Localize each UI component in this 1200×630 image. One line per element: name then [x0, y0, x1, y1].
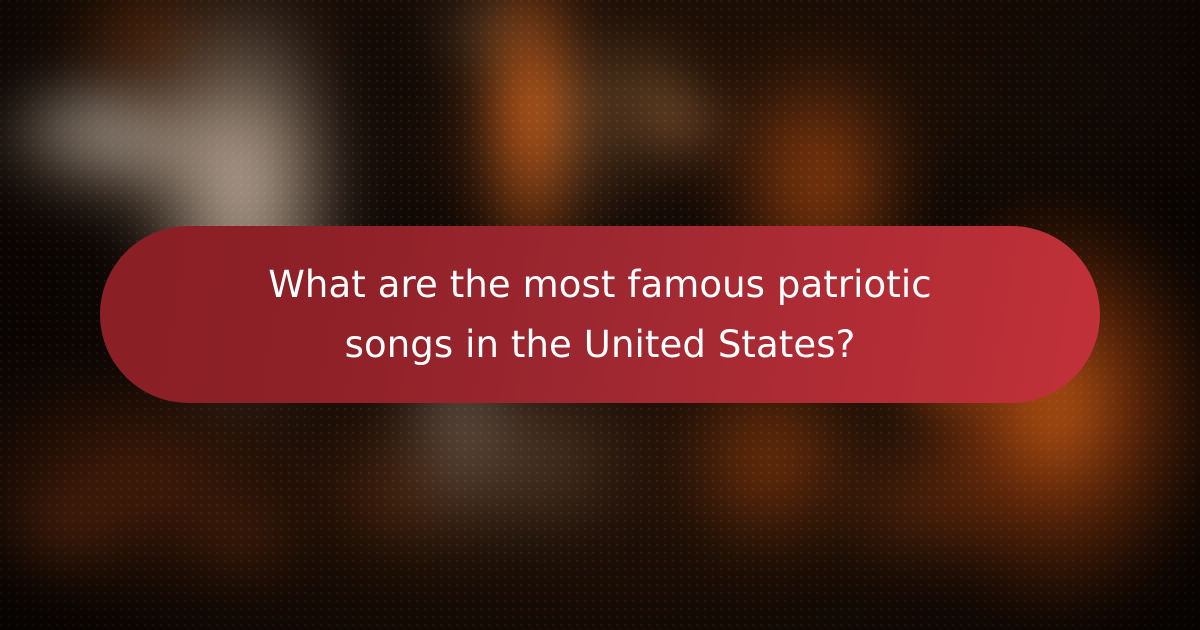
- headline-text: What are the most famous patriotic songs…: [220, 255, 980, 375]
- share-card: What are the most famous patriotic songs…: [0, 0, 1200, 630]
- headline-banner: What are the most famous patriotic songs…: [100, 226, 1100, 403]
